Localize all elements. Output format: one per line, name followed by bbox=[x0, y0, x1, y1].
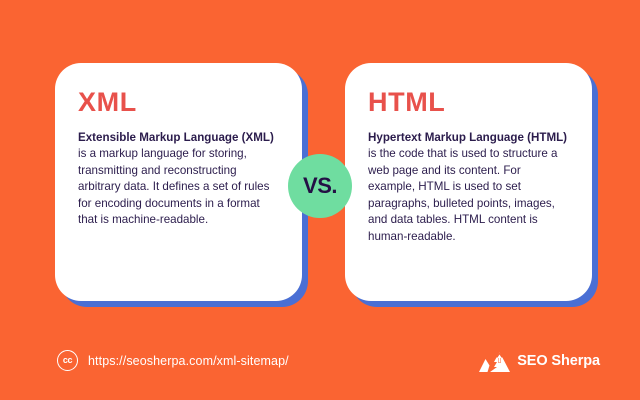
brand-name-label: SEO Sherpa bbox=[517, 354, 600, 369]
comparison-card-xml: XML Extensible Markup Language (XML) is … bbox=[55, 63, 302, 301]
card-description-html: is the code that is used to structure a … bbox=[368, 146, 570, 245]
brand-logo[interactable]: SEO Sherpa bbox=[479, 350, 600, 372]
card-title-html: HTML bbox=[368, 89, 570, 116]
card-description-xml: is a markup language for storing, transm… bbox=[78, 146, 280, 228]
card-lead-xml: Extensible Markup Language (XML) bbox=[78, 130, 280, 146]
footer-source-url[interactable]: https://seosherpa.com/xml-sitemap/ bbox=[88, 354, 289, 368]
card-surface-xml: XML Extensible Markup Language (XML) is … bbox=[55, 63, 302, 301]
creative-commons-label: cc bbox=[63, 356, 72, 365]
footer-bar: cc https://seosherpa.com/xml-sitemap/ SE… bbox=[0, 342, 640, 400]
comparison-cards-row: XML Extensible Markup Language (XML) is … bbox=[0, 0, 640, 340]
creative-commons-icon: cc bbox=[57, 350, 78, 371]
versus-badge: VS. bbox=[288, 154, 352, 218]
card-lead-html: Hypertext Markup Language (HTML) bbox=[368, 130, 570, 146]
card-title-xml: XML bbox=[78, 89, 280, 116]
infographic-canvas: XML Extensible Markup Language (XML) is … bbox=[0, 0, 640, 400]
versus-badge-label: VS. bbox=[303, 175, 337, 197]
card-body-xml: Extensible Markup Language (XML) is a ma… bbox=[78, 130, 280, 229]
card-surface-html: HTML Hypertext Markup Language (HTML) is… bbox=[345, 63, 592, 301]
mountain-peak-icon bbox=[479, 350, 510, 372]
footer-source-group: cc https://seosherpa.com/xml-sitemap/ bbox=[57, 350, 289, 371]
comparison-card-html: HTML Hypertext Markup Language (HTML) is… bbox=[345, 63, 592, 301]
card-body-html: Hypertext Markup Language (HTML) is the … bbox=[368, 130, 570, 245]
